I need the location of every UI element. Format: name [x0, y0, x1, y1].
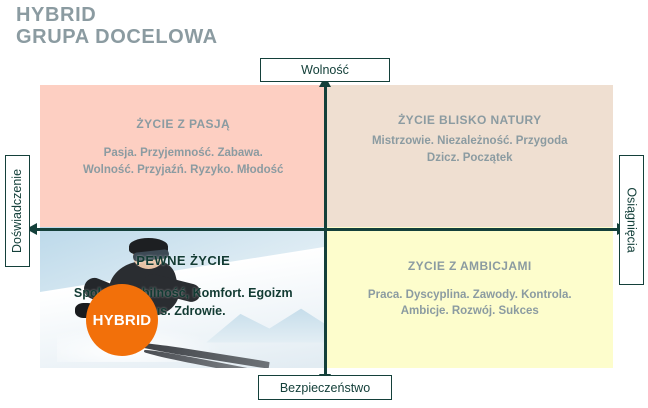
hybrid-badge-label: HYBRID — [93, 313, 152, 328]
quadrant-top-left-body: Pasja. Przyjemność. Zabawa. Wolność. Prz… — [77, 145, 289, 178]
quadrant-top-left-heading: ŻYCIE Z PASJĄ — [136, 117, 230, 131]
axis-label-left-text: Doświadczenie — [11, 169, 25, 253]
quadrant-top-left[interactable]: ŻYCIE Z PASJĄ Pasja. Przyjemność. Zabawa… — [40, 85, 327, 227]
axis-label-top: Wolność — [260, 58, 390, 82]
quadrant-bottom-right[interactable]: ZYCIE Z AMBICJAMI Praca. Dyscyplina. Zaw… — [327, 227, 614, 369]
hybrid-badge[interactable]: HYBRID — [86, 284, 158, 356]
page-title-line-1: HYBRID — [16, 4, 218, 26]
page-title-line-2: GRUPA DOCELOWA — [16, 26, 218, 48]
vertical-axis-line — [324, 78, 327, 384]
quadrant-bottom-left-heading: PEWNE ŻYCIE — [136, 253, 230, 268]
axis-label-bottom: Bezpieczeństwo — [258, 375, 392, 400]
quadrant-top-right-heading: ŻYCIE BLISKO NATURY — [398, 113, 542, 127]
page-title: HYBRID GRUPA DOCELOWA — [16, 4, 218, 49]
axis-label-top-text: Wolność — [301, 63, 349, 77]
axis-label-right: Osiągnięcia — [619, 155, 644, 285]
horizontal-axis-line — [32, 228, 621, 231]
quadrant-top-right[interactable]: ŻYCIE BLISKO NATURY Mistrzowie. Niezależ… — [327, 85, 614, 227]
axis-label-bottom-text: Bezpieczeństwo — [280, 381, 370, 395]
axis-label-left: Doświadczenie — [5, 155, 30, 267]
axis-label-right-text: Osiągnięcia — [625, 187, 639, 252]
quadrant-bottom-right-body: Praca. Dyscyplina. Zawody. Kontrola. Amb… — [362, 287, 578, 320]
quadrant-top-right-body: Mistrzowie. Niezależność. Przygoda Dzicz… — [366, 133, 574, 166]
quadrant-bottom-right-heading: ZYCIE Z AMBICJAMI — [408, 259, 532, 273]
quadrant-bottom-left[interactable]: PEWNE ŻYCIE Spokój. Stabilność, Komfort.… — [40, 227, 327, 369]
